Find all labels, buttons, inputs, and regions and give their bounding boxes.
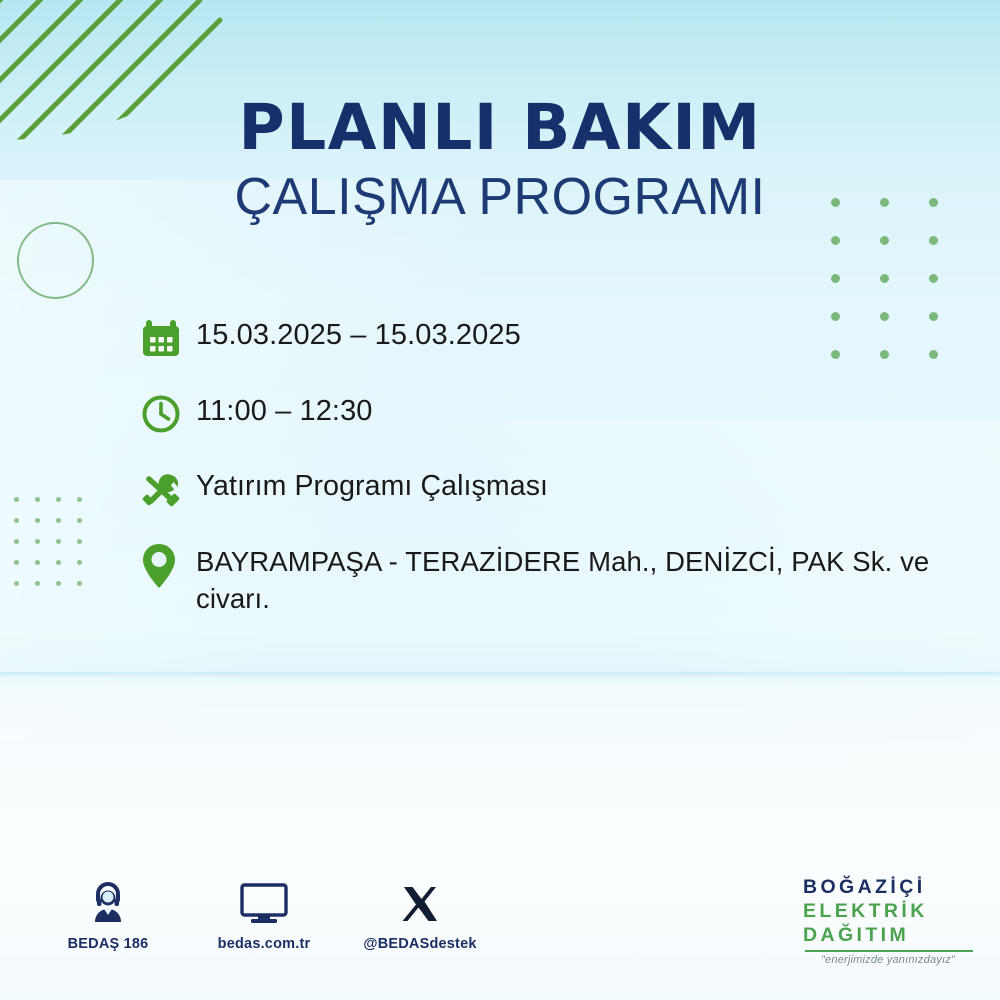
info-row-time: 11:00 – 12:30: [140, 388, 970, 438]
brand-line-1: BOĞAZİÇİ: [803, 876, 978, 900]
brand-underline: [805, 950, 973, 952]
page-subtitle: ÇALIŞMA PROGRAMI: [0, 167, 1000, 227]
info-row-date: 15.03.2025 – 15.03.2025: [140, 312, 970, 362]
circle-outline-decoration: [17, 222, 94, 299]
page-footer: BEDAŞ 186 bedas.com.tr: [0, 870, 1000, 1000]
brand-logo: BOĞAZİÇİ ELEKTRİK DAĞITIM "enerjimizde y…: [803, 876, 978, 966]
brand-tagline: "enerjimizde yanınızdayız": [803, 954, 973, 966]
tools-icon: [140, 464, 196, 514]
x-twitter-icon: [360, 878, 480, 930]
page-header: PLANLI BAKIM ÇALIŞMA PROGRAMI: [0, 96, 1000, 227]
info-row-date-text: 15.03.2025 – 15.03.2025: [196, 312, 521, 355]
contact-phone-label: BEDAŞ 186: [48, 936, 168, 952]
contact-website[interactable]: bedas.com.tr: [204, 878, 324, 952]
contact-website-label: bedas.com.tr: [204, 936, 324, 952]
contact-x-label: @BEDASdestek: [360, 936, 480, 952]
info-row-location-text: BAYRAMPAŞA - TERAZİDERE Mah., DENİZCİ, P…: [196, 540, 970, 617]
clock-icon: [140, 388, 196, 438]
brand-line-3: DAĞITIM: [803, 924, 978, 948]
outage-info-list: 15.03.2025 – 15.03.2025 11:00 – 12:30: [140, 312, 970, 617]
contact-x-social[interactable]: @BEDASdestek: [360, 878, 480, 952]
monitor-icon: [204, 878, 324, 930]
calendar-icon: [140, 312, 196, 362]
info-row-location: BAYRAMPAŞA - TERAZİDERE Mah., DENİZCİ, P…: [140, 540, 970, 617]
location-pin-icon: [140, 540, 196, 590]
info-row-time-text: 11:00 – 12:30: [196, 388, 373, 431]
info-row-worktype-text: Yatırım Programı Çalışması: [196, 464, 548, 506]
page-title: PLANLI BAKIM: [0, 96, 1000, 159]
contact-channels: BEDAŞ 186 bedas.com.tr: [48, 878, 480, 952]
dot-grid-left-decoration: [14, 497, 98, 602]
info-row-worktype: Yatırım Programı Çalışması: [140, 464, 970, 514]
brand-line-2: ELEKTRİK: [803, 900, 978, 924]
poster-canvas: PLANLI BAKIM ÇALIŞMA PROGRAMI: [0, 0, 1000, 1000]
call-center-agent-icon: [48, 878, 168, 930]
background-divider-band: [0, 672, 1000, 679]
contact-phone[interactable]: BEDAŞ 186: [48, 878, 168, 952]
